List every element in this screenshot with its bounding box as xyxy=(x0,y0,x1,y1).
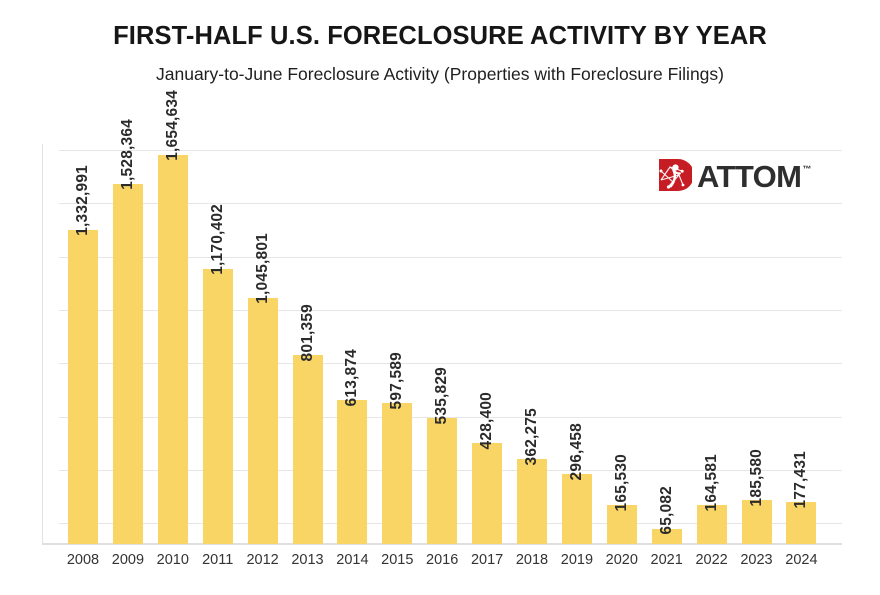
bar-value-label: 165,530 xyxy=(607,454,637,511)
bar[interactable] xyxy=(517,459,547,544)
x-tick-label-2019: 2019 xyxy=(555,552,599,568)
bars-layer: 1,332,9911,528,3641,654,6341,170,4021,04… xyxy=(42,144,842,544)
attom-logo-icon xyxy=(658,158,692,192)
bar[interactable] xyxy=(562,474,592,544)
bar-value-label: 597,589 xyxy=(382,352,412,409)
attom-logo: ATTOM™ xyxy=(658,155,834,195)
bar-group[interactable]: 164,581 xyxy=(697,144,727,544)
bar-group[interactable]: 165,530 xyxy=(607,144,637,544)
bar-value-label: 1,332,991 xyxy=(68,165,98,236)
attom-wordmark: ATTOM™ xyxy=(697,161,810,192)
bar-group[interactable]: 1,654,634 xyxy=(158,144,188,544)
bar-group[interactable]: 1,528,364 xyxy=(113,144,143,544)
bar[interactable] xyxy=(158,155,188,544)
bar-value-label: 1,654,634 xyxy=(158,90,188,161)
bar-group[interactable]: 597,589 xyxy=(382,144,412,544)
bar-value-label: 65,082 xyxy=(652,486,682,535)
x-tick-label-2016: 2016 xyxy=(420,552,464,568)
bar[interactable] xyxy=(382,403,412,544)
x-tick-label-2011: 2011 xyxy=(196,552,240,568)
x-tick-label-2015: 2015 xyxy=(375,552,419,568)
page-title: FIRST-HALF U.S. FORECLOSURE ACTIVITY BY … xyxy=(0,0,880,50)
x-tick-label-2014: 2014 xyxy=(330,552,374,568)
x-tick-label-2008: 2008 xyxy=(61,552,105,568)
x-axis-tick-labels: 2008200920102011201220132014201520162017… xyxy=(42,552,842,580)
bar-group[interactable]: 1,045,801 xyxy=(248,144,278,544)
attom-wordmark-text: ATTOM xyxy=(697,159,801,194)
bar-value-label: 185,580 xyxy=(742,449,772,506)
bar-group[interactable]: 362,275 xyxy=(517,144,547,544)
bar[interactable] xyxy=(427,418,457,544)
x-tick-label-2022: 2022 xyxy=(690,552,734,568)
bar-value-label: 535,829 xyxy=(427,367,457,424)
x-tick-label-2012: 2012 xyxy=(241,552,285,568)
bar-group[interactable]: 185,580 xyxy=(742,144,772,544)
bar-value-label: 1,170,402 xyxy=(203,204,233,275)
bar-group[interactable]: 1,332,991 xyxy=(68,144,98,544)
bar-group[interactable]: 296,458 xyxy=(562,144,592,544)
x-tick-label-2010: 2010 xyxy=(151,552,195,568)
x-tick-label-2009: 2009 xyxy=(106,552,150,568)
x-tick-label-2018: 2018 xyxy=(510,552,554,568)
x-tick-label-2024: 2024 xyxy=(779,552,823,568)
bar-group[interactable]: 801,359 xyxy=(293,144,323,544)
bar-value-label: 164,581 xyxy=(697,454,727,511)
bar-group[interactable]: 613,874 xyxy=(337,144,367,544)
bar-value-label: 1,528,364 xyxy=(113,119,143,190)
chart-header: FIRST-HALF U.S. FORECLOSURE ACTIVITY BY … xyxy=(0,0,880,84)
x-tick-label-2021: 2021 xyxy=(645,552,689,568)
bar-group[interactable]: 428,400 xyxy=(472,144,502,544)
bar[interactable] xyxy=(742,500,772,544)
bar-value-label: 362,275 xyxy=(517,408,547,465)
bar-value-label: 613,874 xyxy=(337,349,367,406)
x-tick-label-2020: 2020 xyxy=(600,552,644,568)
bar-group[interactable]: 535,829 xyxy=(427,144,457,544)
bar-value-label: 428,400 xyxy=(472,392,502,449)
chart-subtitle: January-to-June Foreclosure Activity (Pr… xyxy=(0,50,880,84)
bar[interactable] xyxy=(337,400,367,544)
bar[interactable] xyxy=(203,269,233,544)
x-tick-label-2017: 2017 xyxy=(465,552,509,568)
bar-value-label: 801,359 xyxy=(293,304,323,361)
foreclosure-bar-chart: FIRST-HALF U.S. FORECLOSURE ACTIVITY BY … xyxy=(0,0,880,595)
bar-group[interactable]: 1,170,402 xyxy=(203,144,233,544)
x-tick-label-2023: 2023 xyxy=(735,552,779,568)
bar[interactable] xyxy=(293,355,323,544)
bar-value-label: 1,045,801 xyxy=(248,233,278,304)
trademark-symbol: ™ xyxy=(802,164,811,174)
bar[interactable] xyxy=(113,184,143,544)
bar-value-label: 296,458 xyxy=(562,423,592,480)
bar-group[interactable]: 65,082 xyxy=(652,144,682,544)
bar[interactable] xyxy=(248,298,278,544)
bar[interactable] xyxy=(472,443,502,544)
x-tick-label-2013: 2013 xyxy=(286,552,330,568)
bar-value-label: 177,431 xyxy=(786,451,816,508)
bar[interactable] xyxy=(68,230,98,544)
bar-group[interactable]: 177,431 xyxy=(786,144,816,544)
